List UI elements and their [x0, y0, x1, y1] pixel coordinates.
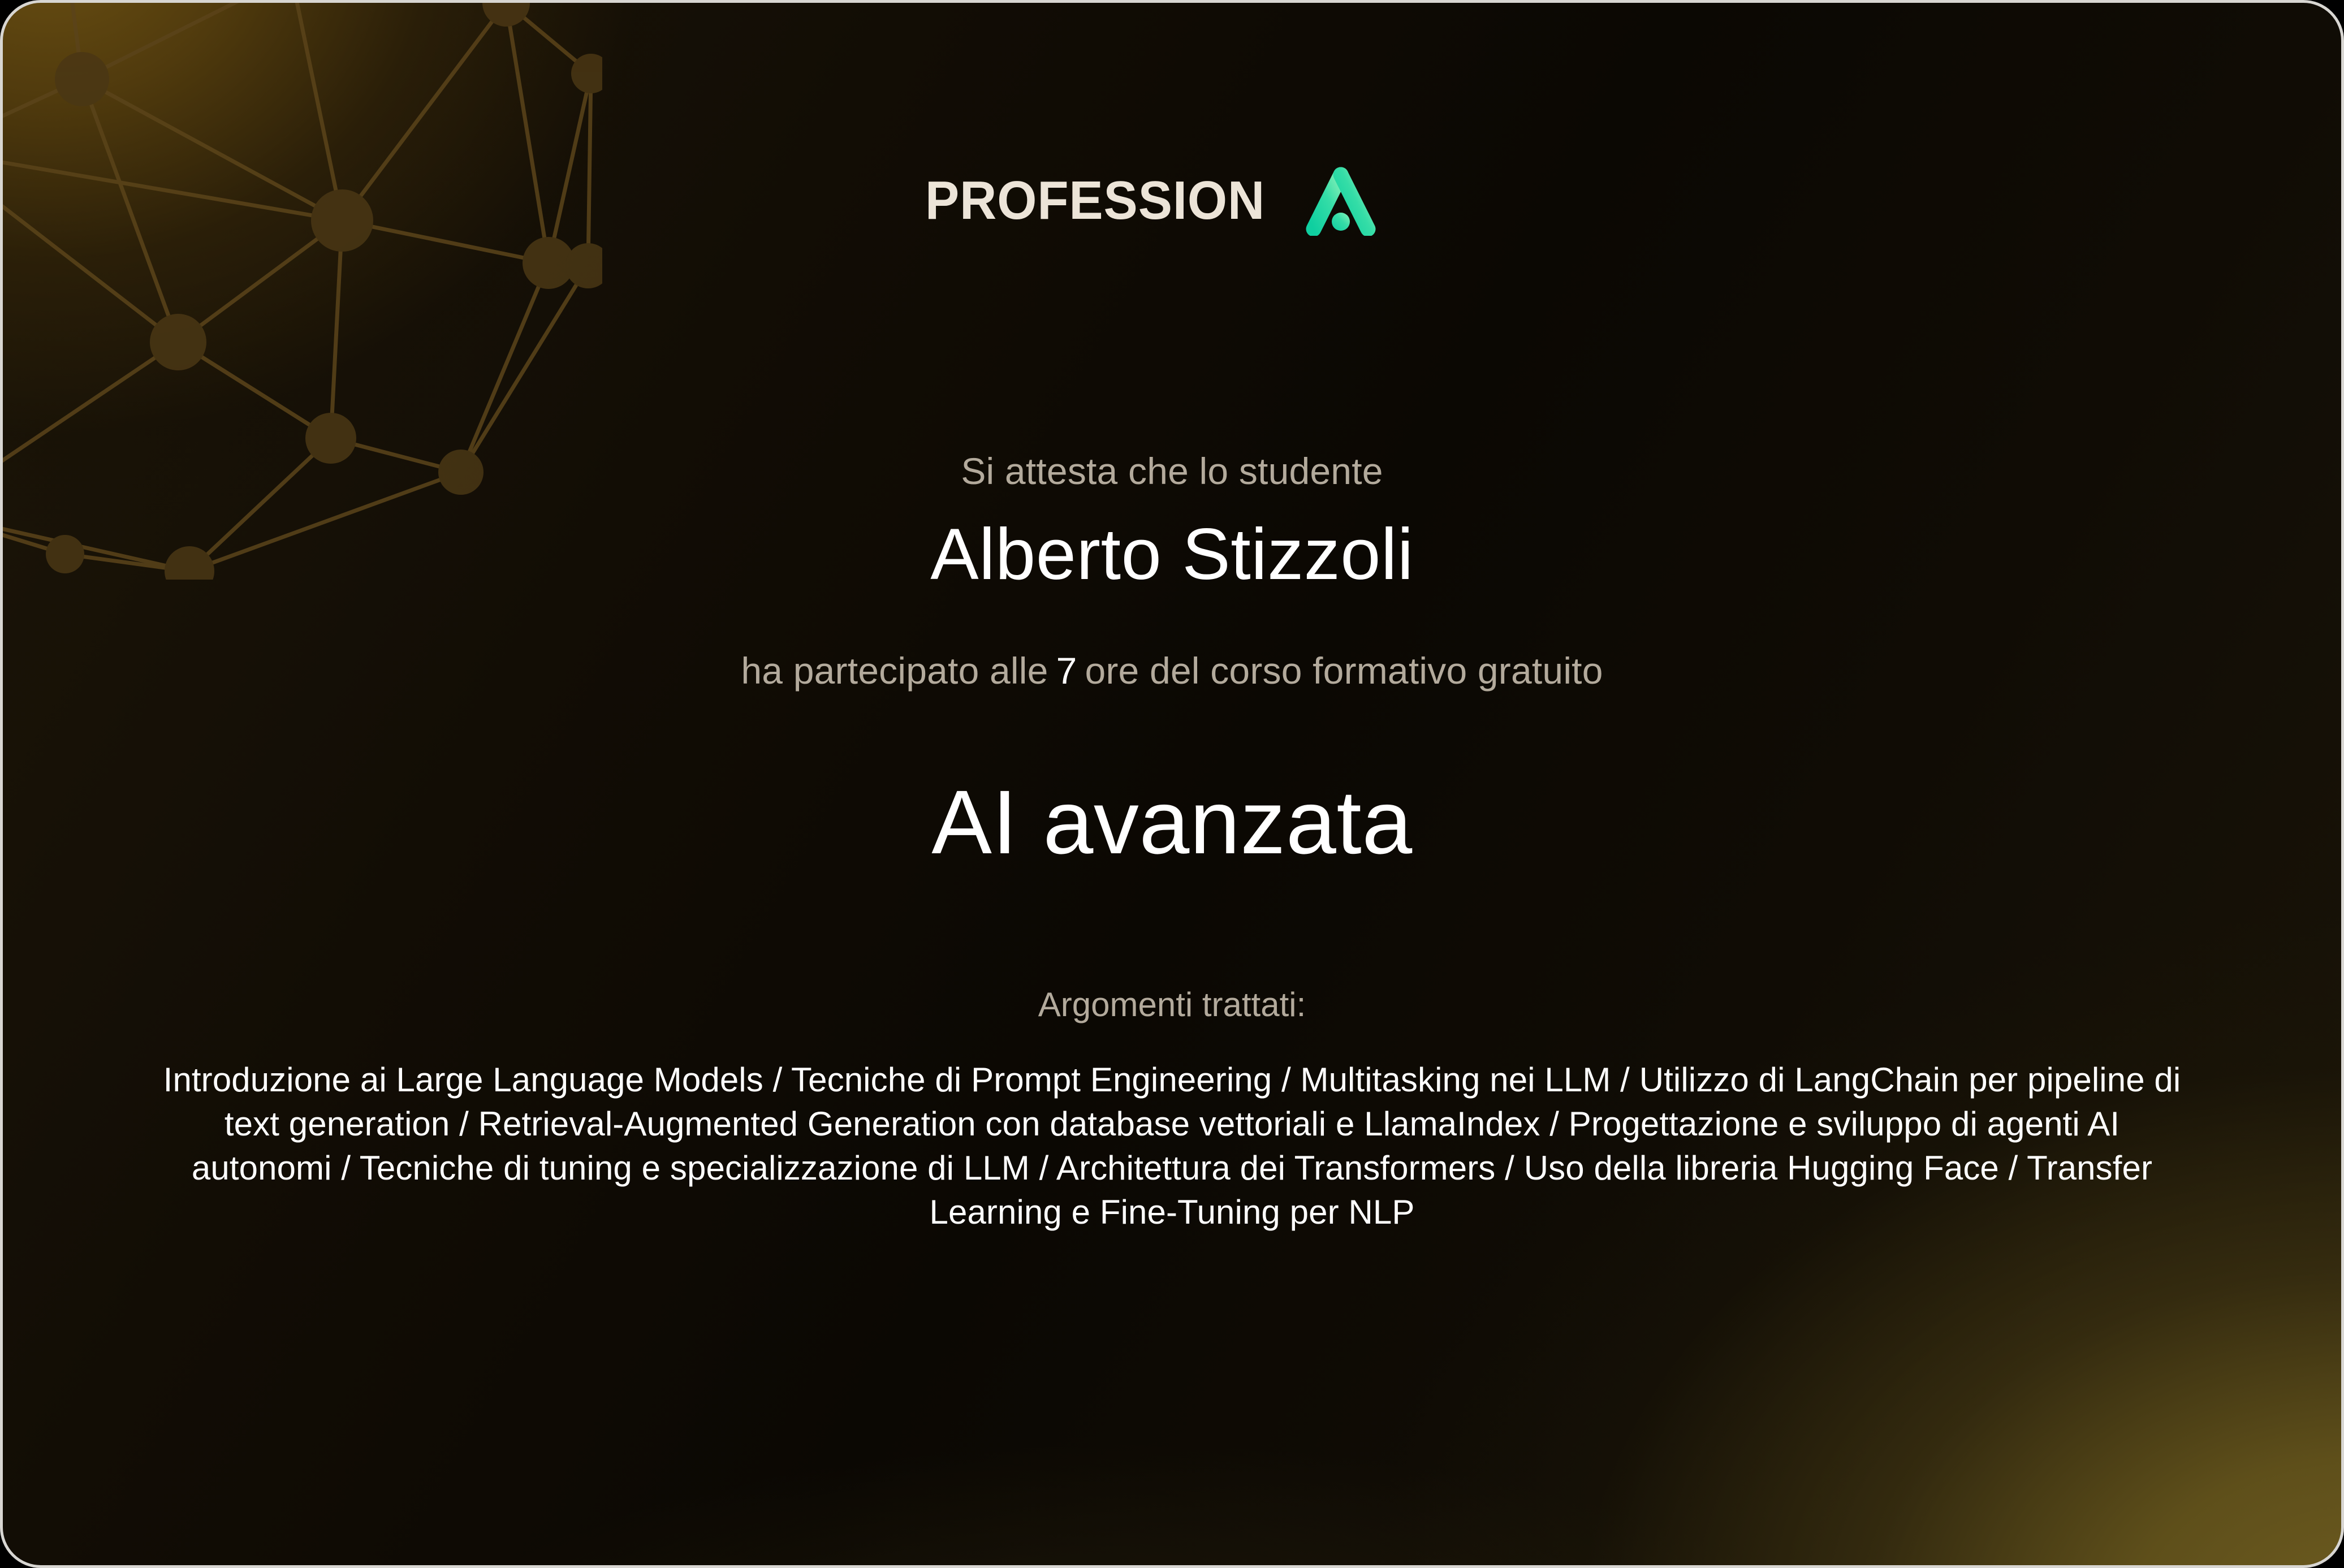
attestation-line: Si attesta che lo studente: [961, 450, 1383, 493]
student-name: Alberto Stizzoli: [930, 514, 1414, 595]
topics-heading: Argomenti trattati:: [1038, 985, 1306, 1024]
hours-value: 7: [1048, 650, 1085, 692]
certificate-content: PROFESSION Si attesta che lo: [3, 3, 2341, 1565]
certificate-card: PROFESSION Si attesta che lo: [0, 0, 2344, 1568]
hours-line: ha partecipato alle7ore del corso format…: [741, 649, 1603, 692]
course-title: AI avanzata: [931, 772, 1413, 872]
hours-suffix-text: ore del corso formativo gratuito: [1085, 650, 1603, 692]
topics-body: Introduzione ai Large Language Models / …: [154, 1058, 2190, 1234]
brand-wordmark: PROFESSION: [925, 174, 1265, 228]
hours-prefix-text: ha partecipato alle: [741, 650, 1048, 692]
brand-logo: PROFESSION: [925, 166, 1419, 236]
profession-ai-logo-icon: [1306, 166, 1419, 236]
